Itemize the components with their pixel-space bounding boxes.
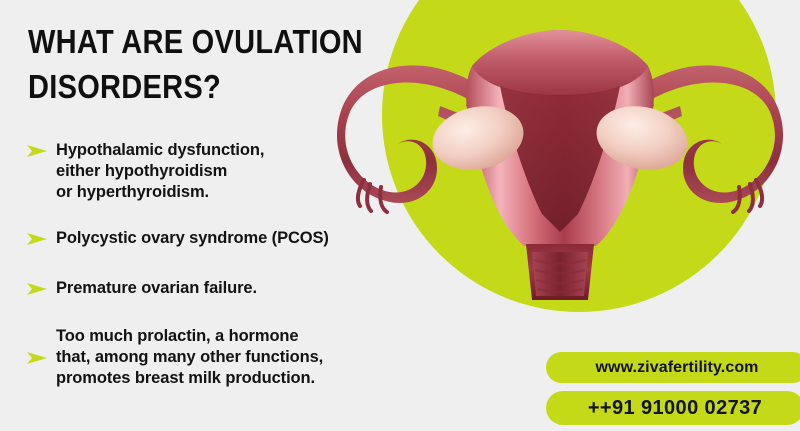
list-item-line: or hyperthyroidism. [56,182,446,203]
list-item: Polycystic ovary syndrome (PCOS) [26,228,446,249]
list-item-text: Hypothalamic dysfunction, either hypothy… [56,140,446,203]
arrow-bullet-icon [26,350,56,366]
arrow-bullet-icon [26,281,56,297]
poster-canvas: WHAT ARE OVULATION DISORDERS? Hypothalam… [0,0,800,431]
list-item-text: Too much prolactin, a hormone that, amon… [56,326,446,389]
page-title-line-1: WHAT ARE OVULATION [28,23,363,60]
website-badge[interactable]: www.zivafertility.com [546,352,800,383]
list-item-text: Premature ovarian failure. [56,278,446,299]
list-item-line: either hypothyroidism [56,161,446,182]
list-item-line: Premature ovarian failure. [56,278,446,299]
arrow-bullet-icon [26,140,56,159]
list-item-line: promotes breast milk production. [56,368,446,389]
page-title-line-2: DISORDERS? [28,64,327,109]
ovulation-disorders-list: Hypothalamic dysfunction, either hypothy… [26,140,446,389]
arrow-bullet-icon [26,231,56,247]
list-item-line: Hypothalamic dysfunction, [56,140,446,161]
list-item-text: Polycystic ovary syndrome (PCOS) [56,228,446,249]
phone-badge[interactable]: ++91 91000 02737 [546,391,800,425]
list-item-line: Too much prolactin, a hormone [56,326,446,347]
list-item: Premature ovarian failure. [26,278,446,299]
list-item: Hypothalamic dysfunction, either hypothy… [26,140,446,203]
list-item-line: that, among many other functions, [56,347,446,368]
page-title: WHAT ARE OVULATION DISORDERS? [28,19,327,109]
list-item-line: Polycystic ovary syndrome (PCOS) [56,228,446,249]
contact-block: www.zivafertility.com ++91 91000 02737 [546,352,800,425]
list-item: Too much prolactin, a hormone that, amon… [26,326,446,389]
